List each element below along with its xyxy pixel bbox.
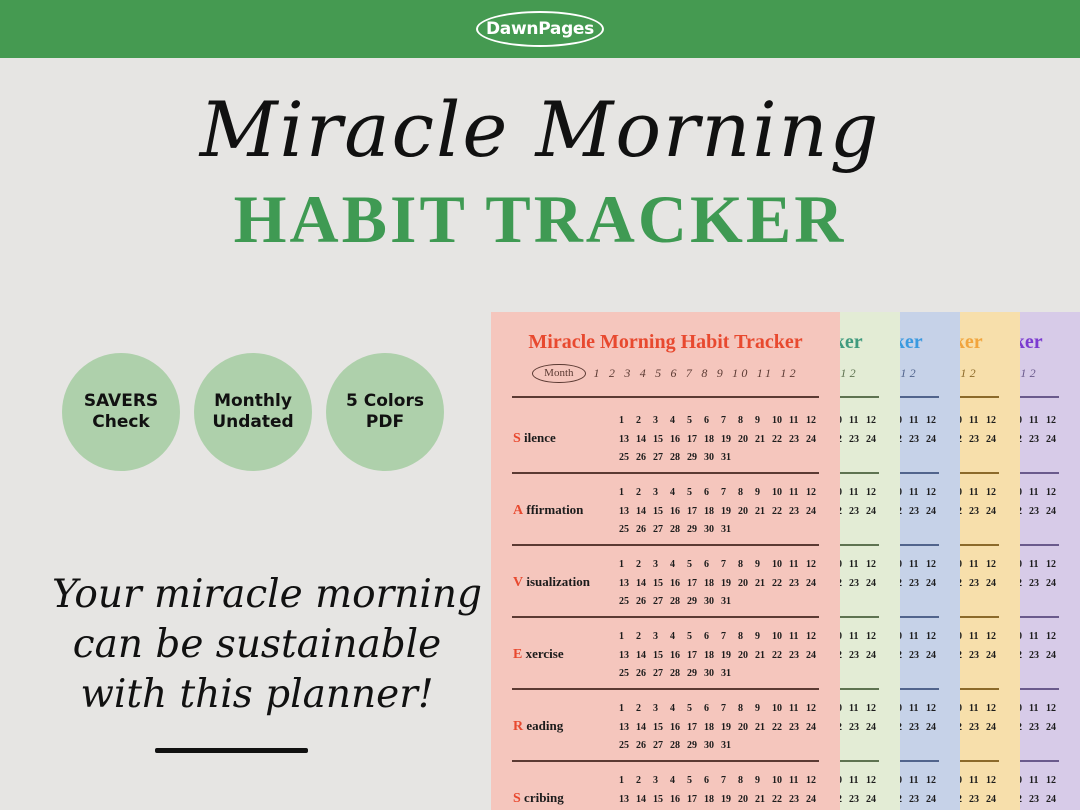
day-cell[interactable]: 20 [738, 503, 755, 522]
day-cell[interactable]: 7 [721, 772, 738, 791]
day-cell[interactable]: 10 [900, 484, 909, 503]
day-cell[interactable]: 26 [636, 521, 653, 540]
habit-day-grid[interactable]: 1234567891011121314151617181920212223242… [960, 628, 1009, 684]
day-cell[interactable]: 23 [969, 791, 986, 810]
day-cell[interactable]: 6 [704, 772, 721, 791]
habit-day-grid[interactable]: 1234567891011121314151617181920212223242… [1020, 412, 1069, 468]
day-cell[interactable]: 21 [755, 647, 772, 666]
day-cell[interactable]: 19 [721, 647, 738, 666]
day-cell[interactable]: 24 [806, 791, 823, 810]
day-cell[interactable]: 9 [755, 556, 772, 575]
day-cell[interactable]: 22 [772, 647, 789, 666]
day-cell[interactable]: 13 [619, 719, 636, 738]
day-cell[interactable]: 1 [619, 412, 636, 431]
day-cell[interactable]: 24 [806, 647, 823, 666]
day-cell[interactable]: 8 [738, 556, 755, 575]
day-cell[interactable]: 13 [619, 575, 636, 594]
day-cell[interactable]: 4 [670, 628, 687, 647]
day-cell[interactable]: 10 [960, 628, 969, 647]
habit-row[interactable]: S cribing1234567891011121314151617181920… [491, 764, 840, 810]
day-cell[interactable]: 22 [900, 575, 909, 594]
day-cell[interactable]: 17 [687, 575, 704, 594]
day-cell[interactable]: 26 [636, 593, 653, 612]
day-cell[interactable]: 1 [619, 628, 636, 647]
day-cell[interactable]: 23 [969, 575, 986, 594]
day-cell[interactable]: 10 [900, 412, 909, 431]
day-cell[interactable]: 30 [704, 737, 721, 756]
day-cell[interactable]: 14 [636, 719, 653, 738]
day-cell[interactable]: 24 [866, 503, 883, 522]
day-cell[interactable]: 23 [969, 719, 986, 738]
habit-day-grid[interactable]: 1234567891011121314151617181920212223242… [619, 556, 829, 612]
day-cell[interactable]: 10 [900, 772, 909, 791]
day-cell[interactable]: 24 [806, 575, 823, 594]
day-cell[interactable]: 6 [704, 700, 721, 719]
day-cell[interactable]: 22 [772, 503, 789, 522]
habit-row[interactable]: S ilence12345678910111213141516171819202… [840, 404, 900, 476]
day-cell[interactable]: 17 [687, 647, 704, 666]
day-cell[interactable]: 22 [840, 431, 849, 450]
day-cell[interactable]: 2 [636, 556, 653, 575]
day-cell[interactable]: 23 [1029, 503, 1046, 522]
day-cell[interactable]: 28 [670, 665, 687, 684]
habit-row[interactable]: V isualization12345678910111213141516171… [840, 548, 900, 620]
day-cell[interactable]: 12 [986, 700, 1003, 719]
day-cell[interactable]: 23 [969, 647, 986, 666]
day-cell[interactable]: 9 [755, 412, 772, 431]
day-cell[interactable]: 7 [721, 628, 738, 647]
day-cell[interactable]: 11 [849, 628, 866, 647]
habit-day-grid[interactable]: 1234567891011121314151617181920212223242… [900, 412, 949, 468]
day-cell[interactable]: 8 [738, 700, 755, 719]
day-cell[interactable]: 24 [866, 575, 883, 594]
day-cell[interactable]: 25 [619, 593, 636, 612]
day-cell[interactable]: 10 [772, 484, 789, 503]
habit-row[interactable]: V isualization12345678910111213141516171… [960, 548, 1020, 620]
day-cell[interactable]: 22 [900, 647, 909, 666]
day-cell[interactable]: 23 [1029, 575, 1046, 594]
day-cell[interactable]: 23 [849, 431, 866, 450]
day-cell[interactable]: 23 [849, 719, 866, 738]
day-cell[interactable]: 12 [866, 772, 883, 791]
habit-day-grid[interactable]: 1234567891011121314151617181920212223242… [619, 484, 829, 540]
day-cell[interactable]: 3 [653, 772, 670, 791]
day-cell[interactable]: 12 [986, 484, 1003, 503]
day-cell[interactable]: 17 [687, 791, 704, 810]
day-cell[interactable]: 12 [866, 412, 883, 431]
day-cell[interactable]: 24 [866, 791, 883, 810]
day-cell[interactable]: 23 [849, 647, 866, 666]
day-cell[interactable]: 23 [789, 575, 806, 594]
day-cell[interactable]: 31 [721, 449, 738, 468]
day-cell[interactable]: 23 [909, 719, 926, 738]
day-cell[interactable]: 12 [926, 772, 943, 791]
habit-day-grid[interactable]: 1234567891011121314151617181920212223242… [960, 556, 1009, 612]
habit-day-grid[interactable]: 1234567891011121314151617181920212223242… [619, 700, 829, 756]
day-cell[interactable]: 5 [687, 772, 704, 791]
day-cell[interactable]: 24 [926, 575, 943, 594]
day-cell[interactable]: 28 [670, 593, 687, 612]
day-cell[interactable]: 4 [670, 700, 687, 719]
day-cell[interactable]: 3 [653, 628, 670, 647]
day-cell[interactable]: 21 [755, 503, 772, 522]
habit-day-grid[interactable]: 1234567891011121314151617181920212223242… [960, 772, 1009, 810]
habit-day-grid[interactable]: 1234567891011121314151617181920212223242… [1020, 556, 1069, 612]
day-cell[interactable]: 22 [900, 503, 909, 522]
day-cell[interactable]: 24 [806, 431, 823, 450]
day-cell[interactable]: 24 [926, 791, 943, 810]
day-cell[interactable]: 15 [653, 503, 670, 522]
day-cell[interactable]: 24 [866, 719, 883, 738]
day-cell[interactable]: 1 [619, 772, 636, 791]
day-cell[interactable]: 26 [636, 737, 653, 756]
habit-row[interactable]: S ilence12345678910111213141516171819202… [900, 404, 960, 476]
day-cell[interactable]: 16 [670, 503, 687, 522]
day-cell[interactable]: 2 [636, 628, 653, 647]
day-cell[interactable]: 12 [1046, 772, 1063, 791]
day-cell[interactable]: 2 [636, 412, 653, 431]
day-cell[interactable]: 27 [653, 737, 670, 756]
day-cell[interactable]: 29 [687, 521, 704, 540]
day-cell[interactable]: 11 [849, 484, 866, 503]
day-cell[interactable]: 17 [687, 503, 704, 522]
day-cell[interactable]: 15 [653, 647, 670, 666]
habit-row[interactable]: S ilence12345678910111213141516171819202… [491, 404, 840, 476]
day-cell[interactable]: 11 [789, 556, 806, 575]
day-cell[interactable]: 24 [926, 503, 943, 522]
day-cell[interactable]: 9 [755, 772, 772, 791]
day-cell[interactable]: 23 [789, 647, 806, 666]
day-cell[interactable]: 23 [909, 431, 926, 450]
habit-row[interactable]: S cribing1234567891011121314151617181920… [1020, 764, 1080, 810]
day-cell[interactable]: 31 [721, 737, 738, 756]
day-cell[interactable]: 10 [960, 412, 969, 431]
habit-row[interactable]: S cribing1234567891011121314151617181920… [840, 764, 900, 810]
day-cell[interactable]: 22 [1020, 647, 1029, 666]
day-cell[interactable]: 4 [670, 412, 687, 431]
day-cell[interactable]: 27 [653, 521, 670, 540]
habit-row[interactable]: R eading12345678910111213141516171819202… [840, 692, 900, 764]
day-cell[interactable]: 19 [721, 431, 738, 450]
day-cell[interactable]: 30 [704, 665, 721, 684]
day-cell[interactable]: 23 [849, 575, 866, 594]
day-cell[interactable]: 23 [1029, 719, 1046, 738]
day-cell[interactable]: 12 [806, 556, 823, 575]
day-cell[interactable]: 11 [1029, 412, 1046, 431]
habit-day-grid[interactable]: 1234567891011121314151617181920212223242… [619, 772, 829, 810]
day-cell[interactable]: 17 [687, 431, 704, 450]
habit-day-grid[interactable]: 1234567891011121314151617181920212223242… [619, 412, 829, 468]
day-cell[interactable]: 24 [1046, 503, 1063, 522]
day-cell[interactable]: 14 [636, 575, 653, 594]
day-cell[interactable]: 10 [840, 700, 849, 719]
habit-row[interactable]: A ffirmation1234567891011121314151617181… [1020, 476, 1080, 548]
day-cell[interactable]: 23 [849, 791, 866, 810]
day-cell[interactable]: 11 [909, 484, 926, 503]
day-cell[interactable]: 1 [619, 556, 636, 575]
day-cell[interactable]: 12 [1046, 700, 1063, 719]
day-cell[interactable]: 11 [1029, 772, 1046, 791]
day-cell[interactable]: 18 [704, 503, 721, 522]
day-cell[interactable]: 24 [986, 431, 1003, 450]
day-cell[interactable]: 2 [636, 484, 653, 503]
tracker-card-green[interactable]: Miracle Morning Habit TrackerMonth1 2 3 … [840, 312, 900, 810]
day-cell[interactable]: 11 [969, 556, 986, 575]
day-cell[interactable]: 30 [704, 449, 721, 468]
day-cell[interactable]: 24 [806, 719, 823, 738]
day-cell[interactable]: 12 [806, 628, 823, 647]
day-cell[interactable]: 20 [738, 791, 755, 810]
day-cell[interactable]: 23 [789, 791, 806, 810]
day-cell[interactable]: 10 [840, 772, 849, 791]
day-cell[interactable]: 10 [772, 772, 789, 791]
habit-row[interactable]: V isualization12345678910111213141516171… [900, 548, 960, 620]
day-cell[interactable]: 12 [1046, 628, 1063, 647]
habit-day-grid[interactable]: 1234567891011121314151617181920212223242… [840, 556, 889, 612]
day-cell[interactable]: 24 [986, 575, 1003, 594]
day-cell[interactable]: 11 [849, 700, 866, 719]
day-cell[interactable]: 23 [1029, 647, 1046, 666]
day-cell[interactable]: 24 [926, 719, 943, 738]
day-cell[interactable]: 24 [986, 503, 1003, 522]
day-cell[interactable]: 22 [960, 431, 969, 450]
day-cell[interactable]: 12 [1046, 484, 1063, 503]
day-cell[interactable]: 11 [909, 412, 926, 431]
habit-row[interactable]: R eading12345678910111213141516171819202… [1020, 692, 1080, 764]
day-cell[interactable]: 12 [1046, 556, 1063, 575]
day-cell[interactable]: 10 [840, 412, 849, 431]
habit-row[interactable]: R eading12345678910111213141516171819202… [900, 692, 960, 764]
day-cell[interactable]: 10 [840, 628, 849, 647]
day-cell[interactable]: 22 [772, 791, 789, 810]
habit-day-grid[interactable]: 1234567891011121314151617181920212223242… [960, 700, 1009, 756]
day-cell[interactable]: 24 [986, 719, 1003, 738]
day-cell[interactable]: 5 [687, 484, 704, 503]
day-cell[interactable]: 12 [806, 700, 823, 719]
day-cell[interactable]: 12 [986, 628, 1003, 647]
habit-row[interactable]: S ilence12345678910111213141516171819202… [1020, 404, 1080, 476]
day-cell[interactable]: 22 [900, 431, 909, 450]
day-cell[interactable]: 23 [789, 719, 806, 738]
day-cell[interactable]: 11 [969, 772, 986, 791]
day-cell[interactable]: 21 [755, 431, 772, 450]
day-cell[interactable]: 22 [900, 791, 909, 810]
day-cell[interactable]: 8 [738, 772, 755, 791]
day-cell[interactable]: 5 [687, 412, 704, 431]
day-cell[interactable]: 22 [772, 431, 789, 450]
day-cell[interactable]: 10 [840, 556, 849, 575]
day-cell[interactable]: 12 [1046, 412, 1063, 431]
day-cell[interactable]: 19 [721, 503, 738, 522]
day-cell[interactable]: 15 [653, 719, 670, 738]
day-cell[interactable]: 5 [687, 628, 704, 647]
day-cell[interactable]: 2 [636, 700, 653, 719]
day-cell[interactable]: 23 [789, 503, 806, 522]
day-cell[interactable]: 28 [670, 737, 687, 756]
habit-day-grid[interactable]: 1234567891011121314151617181920212223242… [960, 412, 1009, 468]
day-cell[interactable]: 3 [653, 412, 670, 431]
day-cell[interactable]: 22 [840, 791, 849, 810]
day-cell[interactable]: 4 [670, 484, 687, 503]
day-cell[interactable]: 11 [789, 484, 806, 503]
day-cell[interactable]: 6 [704, 412, 721, 431]
day-cell[interactable]: 10 [1020, 484, 1029, 503]
day-cell[interactable]: 23 [969, 431, 986, 450]
day-cell[interactable]: 22 [1020, 503, 1029, 522]
day-cell[interactable]: 27 [653, 593, 670, 612]
day-cell[interactable]: 18 [704, 719, 721, 738]
day-cell[interactable]: 3 [653, 484, 670, 503]
day-cell[interactable]: 10 [900, 700, 909, 719]
day-cell[interactable]: 13 [619, 503, 636, 522]
habit-row[interactable]: R eading12345678910111213141516171819202… [491, 692, 840, 764]
day-cell[interactable]: 23 [909, 647, 926, 666]
day-cell[interactable]: 14 [636, 431, 653, 450]
day-cell[interactable]: 11 [909, 628, 926, 647]
day-cell[interactable]: 12 [806, 412, 823, 431]
tracker-card-yellow[interactable]: Miracle Morning Habit TrackerMonth1 2 3 … [960, 312, 1020, 810]
day-cell[interactable]: 10 [772, 412, 789, 431]
day-cell[interactable]: 11 [909, 700, 926, 719]
day-cell[interactable]: 9 [755, 628, 772, 647]
day-cell[interactable]: 18 [704, 791, 721, 810]
day-cell[interactable]: 10 [840, 484, 849, 503]
day-cell[interactable]: 19 [721, 791, 738, 810]
day-cell[interactable]: 19 [721, 575, 738, 594]
day-cell[interactable]: 22 [960, 647, 969, 666]
day-cell[interactable]: 21 [755, 719, 772, 738]
habit-day-grid[interactable]: 1234567891011121314151617181920212223242… [900, 556, 949, 612]
day-cell[interactable]: 10 [1020, 700, 1029, 719]
month-numbers[interactable]: 1 2 3 4 5 6 7 8 9 10 11 12 [840, 366, 859, 381]
day-cell[interactable]: 11 [789, 628, 806, 647]
habit-day-grid[interactable]: 1234567891011121314151617181920212223242… [1020, 700, 1069, 756]
day-cell[interactable]: 23 [969, 503, 986, 522]
day-cell[interactable]: 10 [960, 484, 969, 503]
habit-day-grid[interactable]: 1234567891011121314151617181920212223242… [840, 484, 889, 540]
day-cell[interactable]: 10 [960, 772, 969, 791]
day-cell[interactable]: 27 [653, 449, 670, 468]
habit-day-grid[interactable]: 1234567891011121314151617181920212223242… [1020, 772, 1069, 810]
day-cell[interactable]: 14 [636, 503, 653, 522]
day-cell[interactable]: 12 [806, 484, 823, 503]
day-cell[interactable]: 31 [721, 521, 738, 540]
day-cell[interactable]: 28 [670, 521, 687, 540]
day-cell[interactable]: 22 [960, 719, 969, 738]
habit-row[interactable]: S cribing1234567891011121314151617181920… [960, 764, 1020, 810]
day-cell[interactable]: 22 [1020, 431, 1029, 450]
day-cell[interactable]: 24 [806, 503, 823, 522]
day-cell[interactable]: 24 [926, 431, 943, 450]
day-cell[interactable]: 22 [960, 791, 969, 810]
day-cell[interactable]: 12 [926, 628, 943, 647]
day-cell[interactable]: 7 [721, 484, 738, 503]
day-cell[interactable]: 11 [969, 628, 986, 647]
day-cell[interactable]: 11 [1029, 628, 1046, 647]
day-cell[interactable]: 11 [849, 412, 866, 431]
day-cell[interactable]: 25 [619, 665, 636, 684]
day-cell[interactable]: 10 [1020, 772, 1029, 791]
day-cell[interactable]: 12 [866, 700, 883, 719]
day-cell[interactable]: 10 [772, 556, 789, 575]
day-cell[interactable]: 10 [1020, 628, 1029, 647]
day-cell[interactable]: 12 [866, 484, 883, 503]
day-cell[interactable]: 8 [738, 412, 755, 431]
day-cell[interactable]: 19 [721, 719, 738, 738]
day-cell[interactable]: 8 [738, 628, 755, 647]
day-cell[interactable]: 24 [986, 791, 1003, 810]
habit-row[interactable]: E xercise1234567891011121314151617181920… [840, 620, 900, 692]
habit-day-grid[interactable]: 1234567891011121314151617181920212223242… [1020, 628, 1069, 684]
day-cell[interactable]: 12 [866, 556, 883, 575]
day-cell[interactable]: 31 [721, 593, 738, 612]
day-cell[interactable]: 16 [670, 719, 687, 738]
day-cell[interactable]: 18 [704, 575, 721, 594]
tracker-card-pink[interactable]: Miracle Morning Habit TrackerMonth1 2 3 … [491, 312, 840, 810]
day-cell[interactable]: 16 [670, 791, 687, 810]
day-cell[interactable]: 11 [969, 700, 986, 719]
habit-day-grid[interactable]: 1234567891011121314151617181920212223242… [840, 700, 889, 756]
day-cell[interactable]: 23 [1029, 791, 1046, 810]
day-cell[interactable]: 29 [687, 449, 704, 468]
day-cell[interactable]: 12 [806, 772, 823, 791]
day-cell[interactable]: 23 [849, 503, 866, 522]
day-cell[interactable]: 25 [619, 449, 636, 468]
day-cell[interactable]: 11 [909, 772, 926, 791]
day-cell[interactable]: 10 [900, 628, 909, 647]
day-cell[interactable]: 12 [986, 772, 1003, 791]
tracker-card-purple[interactable]: Miracle Morning Habit TrackerMonth1 2 3 … [1020, 312, 1080, 810]
day-cell[interactable]: 20 [738, 719, 755, 738]
day-cell[interactable]: 26 [636, 449, 653, 468]
day-cell[interactable]: 24 [866, 431, 883, 450]
day-cell[interactable]: 12 [986, 412, 1003, 431]
day-cell[interactable]: 23 [789, 431, 806, 450]
day-cell[interactable]: 25 [619, 521, 636, 540]
day-cell[interactable]: 16 [670, 575, 687, 594]
day-cell[interactable]: 11 [1029, 556, 1046, 575]
day-cell[interactable]: 22 [960, 503, 969, 522]
habit-day-grid[interactable]: 1234567891011121314151617181920212223242… [619, 628, 829, 684]
day-cell[interactable]: 7 [721, 700, 738, 719]
day-cell[interactable]: 30 [704, 521, 721, 540]
day-cell[interactable]: 26 [636, 665, 653, 684]
day-cell[interactable]: 24 [926, 647, 943, 666]
day-cell[interactable]: 22 [900, 719, 909, 738]
day-cell[interactable]: 3 [653, 556, 670, 575]
habit-row[interactable]: S ilence12345678910111213141516171819202… [960, 404, 1020, 476]
day-cell[interactable]: 6 [704, 556, 721, 575]
day-cell[interactable]: 9 [755, 484, 772, 503]
day-cell[interactable]: 20 [738, 431, 755, 450]
day-cell[interactable]: 5 [687, 556, 704, 575]
day-cell[interactable]: 15 [653, 575, 670, 594]
habit-row[interactable]: E xercise1234567891011121314151617181920… [960, 620, 1020, 692]
habit-row[interactable]: V isualization12345678910111213141516171… [1020, 548, 1080, 620]
day-cell[interactable]: 16 [670, 431, 687, 450]
month-label[interactable]: Month [532, 364, 585, 383]
day-cell[interactable]: 22 [1020, 719, 1029, 738]
day-cell[interactable]: 21 [755, 575, 772, 594]
day-cell[interactable]: 3 [653, 700, 670, 719]
day-cell[interactable]: 1 [619, 484, 636, 503]
day-cell[interactable]: 11 [1029, 484, 1046, 503]
day-cell[interactable]: 1 [619, 700, 636, 719]
day-cell[interactable]: 23 [909, 575, 926, 594]
habit-day-grid[interactable]: 1234567891011121314151617181920212223242… [900, 628, 949, 684]
day-cell[interactable]: 16 [670, 647, 687, 666]
day-cell[interactable]: 18 [704, 647, 721, 666]
